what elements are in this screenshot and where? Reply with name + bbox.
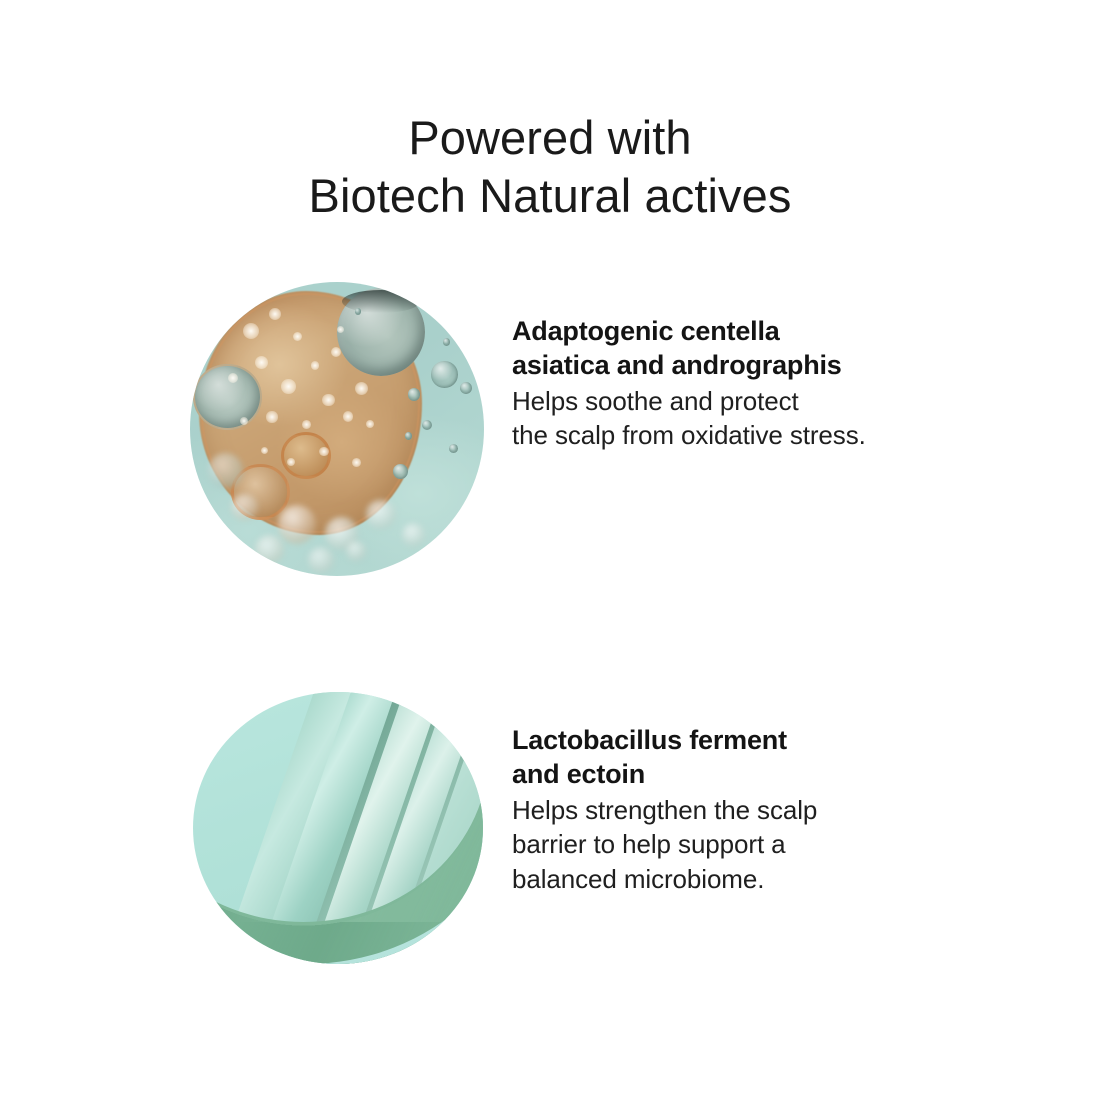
infographic-page: Powered with Biotech Natural actives bbox=[0, 0, 1100, 1100]
water-droplet bbox=[449, 444, 458, 453]
water-droplet bbox=[422, 420, 432, 430]
feature-body-line-1: Helps soothe and protect bbox=[512, 384, 942, 419]
oil-scene bbox=[190, 282, 484, 576]
feature-body-line-2: barrier to help support a bbox=[512, 827, 942, 862]
water-droplet bbox=[393, 464, 408, 479]
oil-droplets-macro-image bbox=[190, 282, 484, 576]
green-gel-ribbon-macro-image bbox=[193, 692, 483, 964]
page-title: Powered with Biotech Natural actives bbox=[0, 109, 1100, 224]
grey-green-bubble-left bbox=[193, 364, 262, 430]
oil-sparkle bbox=[266, 411, 277, 422]
oil-sparkle bbox=[355, 382, 368, 395]
bokeh-circle bbox=[402, 523, 426, 547]
feature-heading: Lactobacillus ferment and ectoin bbox=[512, 723, 942, 792]
feature-heading-line-1: Adaptogenic centella bbox=[512, 314, 942, 348]
feature-copy: Adaptogenic centella asiatica and androg… bbox=[512, 314, 942, 453]
oil-sparkle bbox=[255, 356, 269, 370]
bokeh-circle bbox=[346, 541, 367, 562]
feature-body-line-1: Helps strengthen the scalp bbox=[512, 793, 942, 828]
feature-body-line-2: the scalp from oxidative stress. bbox=[512, 418, 942, 453]
bokeh-circle bbox=[231, 494, 257, 520]
bokeh-circle bbox=[366, 500, 395, 529]
feature-copy: Lactobacillus ferment and ectoin Helps s… bbox=[512, 723, 942, 896]
oil-sparkle bbox=[352, 458, 361, 467]
water-droplet bbox=[443, 338, 451, 346]
water-droplet bbox=[355, 308, 361, 314]
water-droplet bbox=[405, 432, 413, 440]
grey-green-bubble-large bbox=[337, 288, 425, 376]
water-droplet bbox=[431, 361, 457, 387]
water-droplet bbox=[460, 382, 472, 394]
oil-sparkle bbox=[302, 420, 311, 429]
feature-block-adaptogenic-centella: Adaptogenic centella asiatica and androg… bbox=[0, 282, 1100, 582]
bokeh-circle bbox=[278, 505, 316, 543]
feature-heading: Adaptogenic centella asiatica and androg… bbox=[512, 314, 942, 383]
gel-ribbon-arc-highlight bbox=[193, 692, 483, 964]
bokeh-circle bbox=[255, 535, 284, 564]
feature-heading-line-2: and ectoin bbox=[512, 757, 942, 791]
feature-heading-line-1: Lactobacillus ferment bbox=[512, 723, 942, 757]
bokeh-circle bbox=[308, 547, 334, 573]
water-droplet bbox=[408, 388, 421, 401]
page-title-line-2: Biotech Natural actives bbox=[0, 167, 1100, 224]
page-title-line-1: Powered with bbox=[0, 109, 1100, 166]
bokeh-circle bbox=[208, 453, 243, 488]
feature-block-lactobacillus-ferment: Lactobacillus ferment and ectoin Helps s… bbox=[0, 688, 1100, 988]
feature-body: Helps soothe and protect the scalp from … bbox=[512, 384, 942, 453]
oil-sparkle bbox=[287, 458, 295, 466]
oil-sparkle bbox=[331, 347, 341, 357]
oil-sparkle bbox=[281, 379, 296, 394]
oil-sparkle bbox=[366, 420, 374, 428]
feature-heading-line-2: asiatica and andrographis bbox=[512, 348, 942, 382]
feature-body-line-3: balanced microbiome. bbox=[512, 862, 942, 897]
gel-scene bbox=[193, 692, 483, 964]
oil-sparkle bbox=[322, 394, 334, 406]
oil-sparkle bbox=[319, 447, 328, 456]
oil-sparkle bbox=[261, 447, 268, 454]
feature-body: Helps strengthen the scalp barrier to he… bbox=[512, 793, 942, 897]
